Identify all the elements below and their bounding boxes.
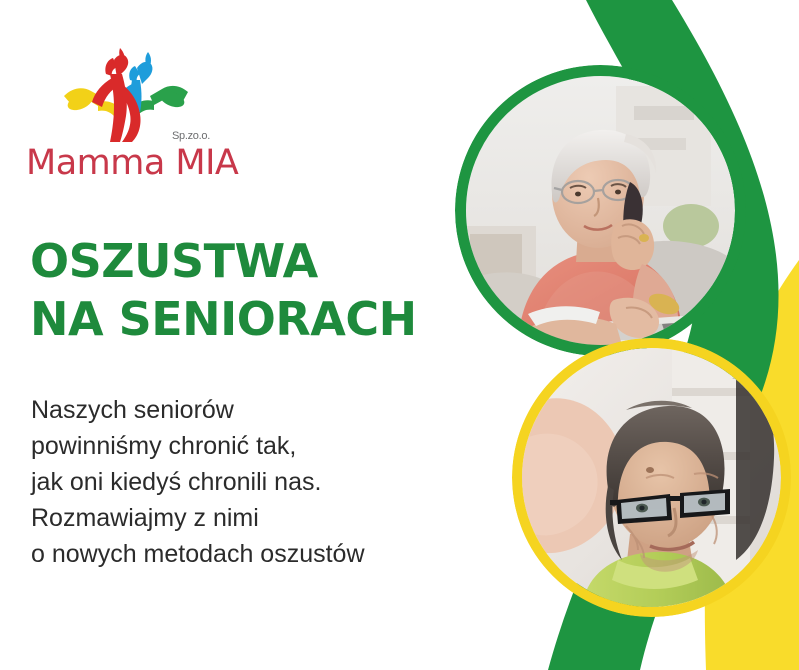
headline-line-2: NA SENIORACH	[30, 290, 460, 348]
brand-logo: Sp.zo.o. Mamma MIA	[24, 44, 239, 184]
body-line-4: Rozmawiajmy z nimi	[31, 500, 461, 536]
photo-senior-portrait-ring	[512, 338, 791, 617]
body-line-2: powinniśmy chronić tak,	[31, 428, 461, 464]
body-line-3: jak oni kiedyś chronili nas.	[31, 464, 461, 500]
photo-senior-portrait	[512, 338, 791, 617]
poster-canvas: Sp.zo.o. Mamma MIA OSZUSTWA NA SENIORACH…	[0, 0, 799, 670]
photo-senior-on-phone	[455, 65, 746, 356]
body-line-5: o nowych metodach oszustów	[31, 536, 461, 572]
headline-line-1: OSZUSTWA	[30, 232, 460, 290]
photo-senior-on-phone-ring	[455, 65, 746, 356]
legal-form-label: Sp.zo.o.	[172, 130, 210, 142]
headline: OSZUSTWA NA SENIORACH	[30, 232, 460, 348]
tree-of-people-icon	[62, 44, 192, 142]
company-name: Mamma MIA	[26, 144, 238, 182]
body-copy: Naszych seniorów powinniśmy chronić tak,…	[31, 392, 461, 572]
body-line-1: Naszych seniorów	[31, 392, 461, 428]
